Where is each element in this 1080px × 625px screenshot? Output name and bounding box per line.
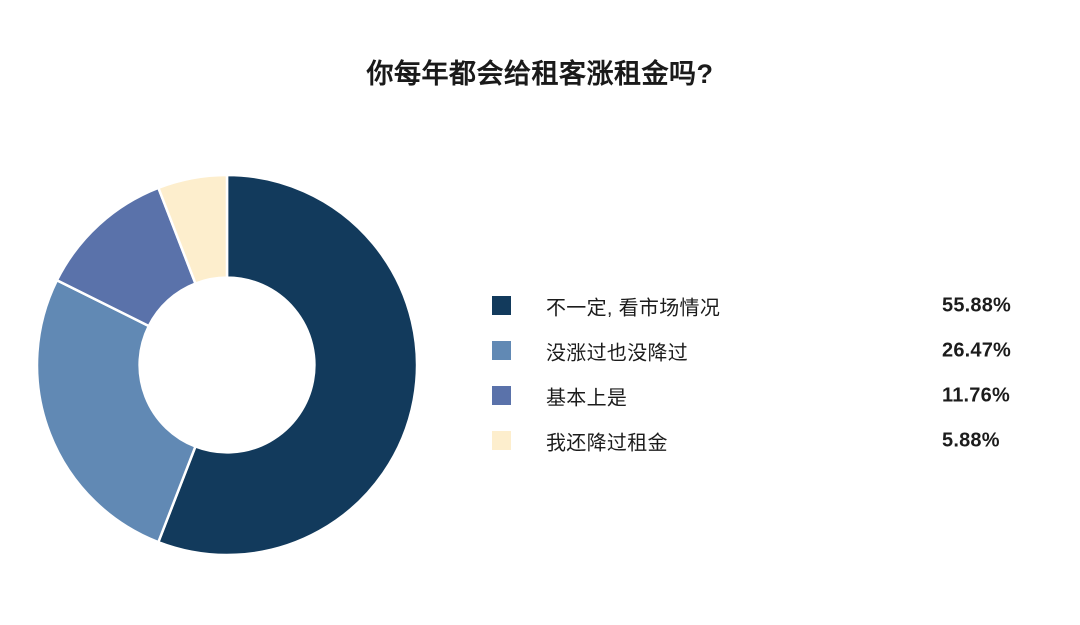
donut-slice-group [37,175,417,555]
donut-chart-svg [37,175,417,555]
legend-item-value: 55.88% [942,294,1011,317]
legend-item[interactable]: 没涨过也没降过 26.47% [492,328,1037,373]
donut-slice[interactable] [37,280,195,542]
legend-item[interactable]: 基本上是 11.76% [492,373,1037,418]
legend-item-value: 26.47% [942,339,1011,362]
legend-swatch-color [492,431,511,450]
legend-swatch-color [492,296,511,315]
legend-item-value: 11.76% [942,384,1010,407]
legend: 不一定, 看市场情况 55.88% 没涨过也没降过 26.47% 基本上是 11… [492,283,1037,463]
legend-item-value: 5.88% [942,429,1000,452]
legend-item[interactable]: 我还降过租金 5.88% [492,418,1037,463]
legend-item-label: 基本上是 [546,381,627,410]
legend-swatch-color [492,341,511,360]
legend-item-label: 不一定, 看市场情况 [546,291,720,320]
legend-item-label: 没涨过也没降过 [546,336,688,365]
chart-title: 你每年都会给租客涨租金吗? [0,52,1080,91]
legend-item-label: 我还降过租金 [546,426,668,455]
donut-chart [37,175,417,555]
legend-swatch-color [492,386,511,405]
legend-item[interactable]: 不一定, 看市场情况 55.88% [492,283,1037,328]
